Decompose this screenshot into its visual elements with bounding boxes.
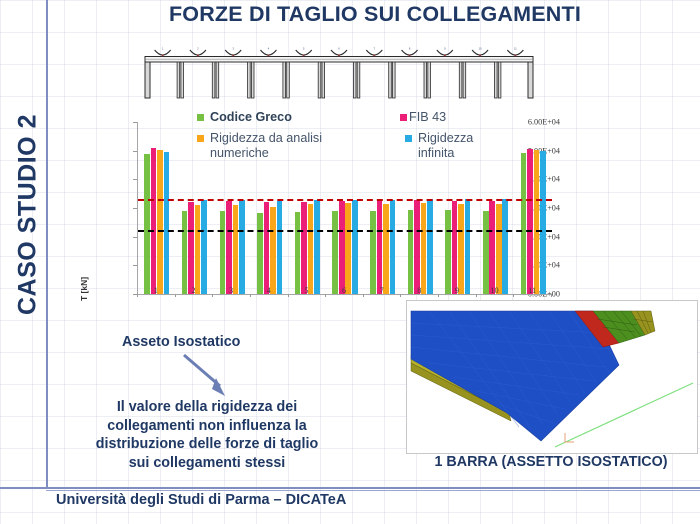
bar[interactable]	[377, 201, 383, 294]
conclusion-line: Il valore della rigidezza dei	[62, 398, 352, 417]
x-axis-tick-mark	[363, 294, 364, 297]
bar[interactable]	[144, 154, 150, 294]
svg-text:11: 11	[514, 47, 517, 51]
legend-item-codice-greco[interactable]: Codice Greco	[197, 110, 292, 125]
bar[interactable]	[390, 200, 396, 294]
bar[interactable]	[151, 148, 157, 294]
legend-label: Rigidezza da analisi numeriche	[210, 131, 347, 161]
x-axis-tick-label: 1	[137, 286, 175, 295]
x-axis-tick-label: 11	[513, 286, 551, 295]
x-axis-tick-mark	[175, 294, 176, 297]
bar[interactable]	[383, 204, 389, 294]
x-axis-tick-mark	[325, 294, 326, 297]
x-axis-tick-label: 4	[250, 286, 288, 295]
bar[interactable]	[427, 199, 433, 294]
bar[interactable]	[301, 202, 307, 294]
x-axis-tick-label: 2	[174, 286, 212, 295]
x-axis-tick-mark	[476, 294, 477, 297]
x-axis-tick-label: 10	[476, 286, 514, 295]
svg-text:10: 10	[479, 47, 482, 51]
legend-label: FIB 43	[409, 110, 446, 125]
bar[interactable]	[295, 212, 301, 294]
legend-item-rigidezza-infinita[interactable]: Rigidezza infinita	[405, 131, 497, 161]
black-reference-line	[138, 230, 552, 232]
bar[interactable]	[314, 200, 320, 294]
bar[interactable]	[233, 205, 239, 294]
conclusion-line: distribuzione delle forze di taglio	[62, 435, 352, 454]
bar[interactable]	[521, 153, 527, 294]
bar[interactable]	[540, 151, 546, 294]
x-axis-tick-mark	[551, 294, 552, 297]
bar[interactable]	[195, 205, 201, 294]
bar[interactable]	[489, 201, 495, 294]
y-axis-label: T [kN]	[79, 259, 89, 319]
svg-text:8: 8	[409, 47, 411, 51]
bar[interactable]	[527, 149, 533, 294]
bar[interactable]	[220, 211, 226, 294]
bar[interactable]	[408, 210, 414, 294]
bar[interactable]	[496, 204, 502, 294]
legend-label: Codice Greco	[210, 110, 292, 125]
bar[interactable]	[534, 150, 540, 294]
bar[interactable]	[421, 203, 427, 294]
bar[interactable]	[257, 213, 263, 294]
svg-text:2: 2	[197, 47, 199, 51]
slide-canvas: CASO STUDIO 2 FORZE DI TAGLIO SUI COLLEG…	[0, 0, 700, 524]
x-axis-tick-mark	[250, 294, 251, 297]
x-axis-tick-mark	[288, 294, 289, 297]
bar[interactable]	[332, 211, 338, 294]
bar[interactable]	[458, 204, 464, 294]
x-axis-tick-mark	[400, 294, 401, 297]
legend-item-rigidezza-analisi[interactable]: Rigidezza da analisi numeriche	[197, 131, 347, 161]
svg-text:7: 7	[374, 47, 376, 51]
bar[interactable]	[226, 201, 232, 294]
conclusion-line: collegamenti non influenza la	[62, 417, 352, 436]
legend-swatch-icon	[197, 114, 204, 121]
bar[interactable]	[164, 152, 170, 294]
bar[interactable]	[270, 207, 276, 294]
svg-text:3: 3	[232, 47, 234, 51]
red-reference-line	[138, 199, 552, 201]
svg-text:1: 1	[162, 47, 164, 51]
vertical-divider	[46, 0, 48, 488]
render-caption: 1 BARRA (ASSETTO ISOSTATICO)	[406, 454, 696, 470]
page-title: FORZE DI TAGLIO SUI COLLEGAMENTI	[140, 2, 610, 27]
legend-swatch-icon	[197, 135, 204, 142]
x-axis-tick-label: 9	[438, 286, 476, 295]
chart-legend: Codice Greco Rigidezza da analisi numeri…	[197, 110, 497, 164]
bar[interactable]	[182, 211, 188, 294]
bar[interactable]	[465, 199, 471, 294]
svg-text:6: 6	[338, 47, 340, 51]
bar[interactable]	[264, 202, 270, 294]
bar-group	[144, 122, 169, 294]
bar[interactable]	[352, 200, 358, 294]
bar[interactable]	[277, 201, 283, 294]
horizontal-divider-secondary	[46, 490, 700, 491]
x-axis-tick-mark	[438, 294, 439, 297]
bar[interactable]	[345, 203, 351, 294]
svg-text:4: 4	[268, 47, 270, 51]
svg-text:5: 5	[303, 47, 305, 51]
x-axis-tick-mark	[212, 294, 213, 297]
legend-item-fib-43[interactable]: FIB 43	[400, 110, 446, 125]
x-axis-tick-mark	[137, 294, 138, 297]
conclusion-paragraph: Il valore della rigidezza deicollegament…	[62, 398, 352, 472]
bar[interactable]	[414, 200, 420, 294]
x-axis-tick-label: 7	[363, 286, 401, 295]
x-axis-tick-label: 5	[287, 286, 325, 295]
bar[interactable]	[452, 201, 458, 294]
svg-text:9: 9	[444, 47, 446, 51]
x-axis-tick-mark	[513, 294, 514, 297]
x-axis-tick-label: 3	[212, 286, 250, 295]
bar[interactable]	[502, 199, 508, 294]
conclusion-line: sui collegamenti stessi	[62, 454, 352, 473]
callout-label: Asseto Isostatico	[122, 334, 240, 350]
bar-group	[521, 122, 546, 294]
bar[interactable]	[483, 211, 489, 294]
x-axis-tick-label: 8	[400, 286, 438, 295]
bar[interactable]	[339, 201, 345, 294]
case-study-side-label: CASO STUDIO 2	[14, 95, 43, 335]
horizontal-divider	[0, 487, 700, 489]
bar[interactable]	[157, 150, 163, 294]
bar[interactable]	[188, 202, 194, 294]
legend-swatch-icon	[400, 114, 407, 121]
bar[interactable]	[308, 204, 314, 294]
bar[interactable]	[239, 200, 245, 294]
frame-elevation-diagram: 1234567891011	[143, 47, 535, 99]
bar[interactable]	[201, 200, 207, 294]
bar[interactable]	[370, 211, 376, 294]
down-right-arrow-icon	[180, 352, 240, 400]
legend-swatch-icon	[405, 135, 412, 142]
bar[interactable]	[445, 210, 451, 294]
footer-text: Università degli Studi di Parma – DICATe…	[56, 492, 346, 508]
legend-label: Rigidezza infinita	[418, 131, 497, 161]
x-axis-tick-label: 6	[325, 286, 363, 295]
fem-3d-render	[406, 300, 698, 454]
